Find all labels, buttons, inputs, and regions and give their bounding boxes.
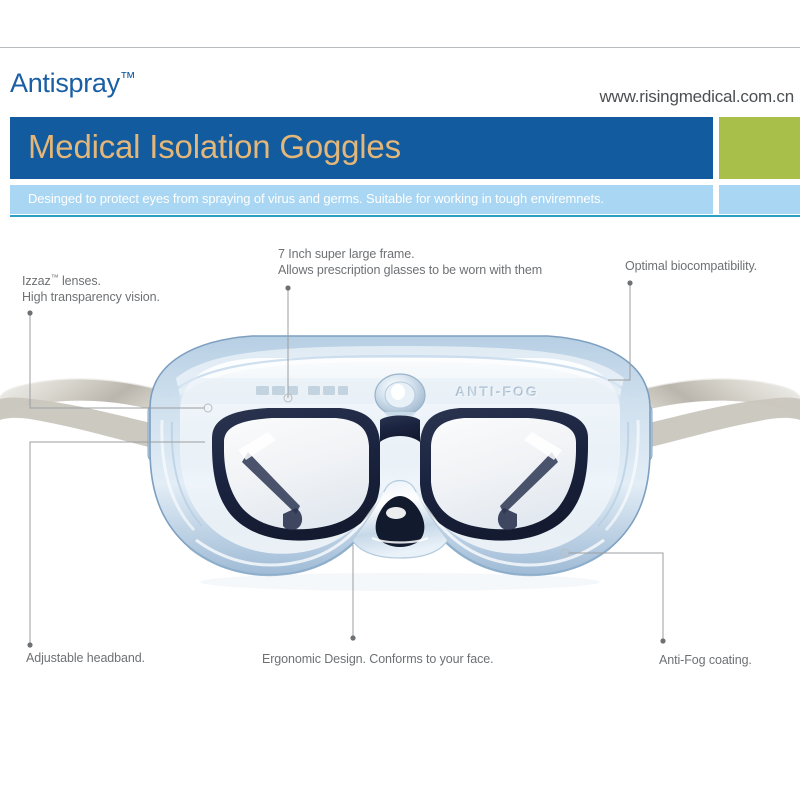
- callout-headband-line1: Adjustable headband.: [26, 650, 145, 666]
- callout-lenses-line2: High transparency vision.: [22, 289, 160, 305]
- callout-frame-size-line2: Allows prescription glasses to be worn w…: [278, 262, 542, 278]
- callout-ergonomic-line1: Ergonomic Design. Conforms to your face.: [262, 651, 494, 667]
- product-subtitle-bar: Desinged to protect eyes from spraying o…: [10, 185, 713, 214]
- product-infographic-page: Antispray™ www.risingmedical.com.cn Medi…: [0, 0, 800, 800]
- callout-frame-size: 7 Inch super large frame. Allows prescri…: [278, 246, 542, 278]
- callout-frame-size-line1: 7 Inch super large frame.: [278, 246, 542, 262]
- page-subtitle: Desinged to protect eyes from spraying o…: [28, 191, 604, 206]
- brand-logo-text: Antispray™: [10, 68, 136, 99]
- accent-block-light-blue: [719, 185, 800, 214]
- callout-biocompatibility: Optimal biocompatibility.: [625, 258, 757, 274]
- product-title-bar: Medical Isolation Goggles: [10, 117, 713, 179]
- goggles-illustration: ANTI-FOG ANTI-FOG: [0, 300, 800, 640]
- callout-antifog-line1: Anti-Fog coating.: [659, 652, 752, 668]
- leader-dot-headband: [27, 642, 32, 647]
- callout-ergonomic: Ergonomic Design. Conforms to your face.: [262, 651, 494, 667]
- page-title: Medical Isolation Goggles: [28, 128, 401, 166]
- leader-dot-biocompatibility: [627, 280, 632, 285]
- accent-block-green: [719, 117, 800, 179]
- callout-biocompatibility-line1: Optimal biocompatibility.: [625, 258, 757, 274]
- leader-dot-frame-size: [285, 285, 290, 290]
- callout-lenses-line1: Izzaz™ lenses.: [22, 270, 160, 289]
- headband-strap-right: [628, 379, 800, 452]
- callout-lenses-tm: ™: [51, 273, 59, 282]
- headband-strap-left: [0, 379, 172, 452]
- top-divider-rule: [0, 47, 800, 48]
- callout-lenses-rest: lenses.: [59, 274, 101, 288]
- callout-lenses-brand: Izzaz: [22, 274, 51, 288]
- product-shadow: [200, 573, 600, 591]
- callout-headband: Adjustable headband.: [26, 650, 145, 666]
- brand-name: Antispray: [10, 68, 120, 98]
- product-image: ANTI-FOG ANTI-FOG: [0, 300, 800, 640]
- brand-trademark-symbol: ™: [120, 70, 136, 87]
- callout-antifog: Anti-Fog coating.: [659, 652, 752, 668]
- website-url[interactable]: www.risingmedical.com.cn: [599, 87, 794, 107]
- svg-text:ANTI-FOG: ANTI-FOG: [456, 384, 540, 400]
- nose-bridge-highlight: [386, 507, 406, 519]
- teal-underline-rule: [10, 215, 800, 217]
- callout-lenses: Izzaz™ lenses. High transparency vision.: [22, 270, 160, 305]
